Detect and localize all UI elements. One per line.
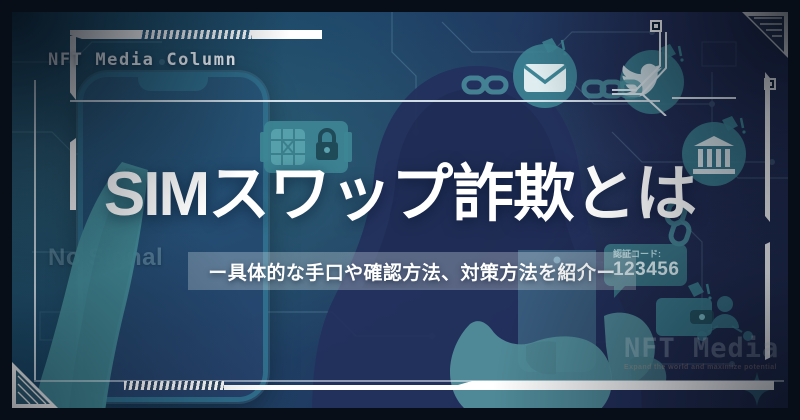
headline-latin: SIM: [104, 160, 208, 229]
article-thumbnail-banner: No Signal: [0, 0, 800, 420]
broken-chain-icon: [460, 68, 512, 102]
subtitle-text: ー具体的な手口や確認方法、対策方法を紹介ー: [208, 258, 615, 285]
watermark-tagline: Expand the world and maximize potential: [624, 364, 779, 371]
subtitle-bar: ー具体的な手口や確認方法、対策方法を紹介ー: [188, 252, 636, 290]
phone-notch: [138, 77, 208, 91]
watermark-name: NFT Media: [624, 334, 779, 364]
page-title: SIMスワップ詐欺とは: [12, 160, 788, 230]
watermark: NFT Media Expand the world and maximize …: [624, 334, 779, 371]
mail-envelope-icon: [508, 36, 582, 110]
sparkle-icon: [740, 372, 774, 406]
broken-chain-icon: [580, 70, 644, 110]
artwork-canvas: No Signal: [12, 12, 788, 408]
eyebrow-label: NFT Media Column: [48, 50, 237, 70]
headline-japanese: スワップ詐欺とは: [208, 160, 696, 229]
